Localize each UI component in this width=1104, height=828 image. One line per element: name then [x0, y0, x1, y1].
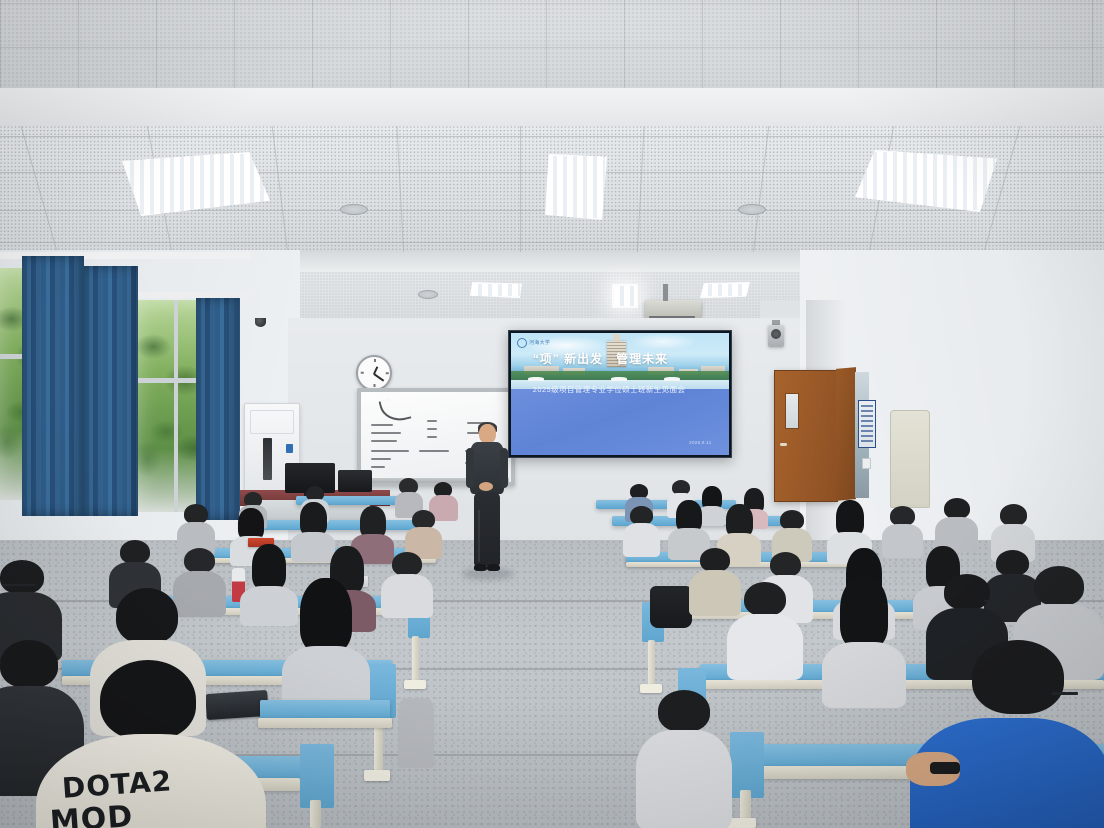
curtain-panel-3: [196, 298, 240, 520]
wall-panel: [890, 410, 930, 508]
slide-title: “项” 新出发 管理未来: [533, 350, 668, 367]
door-handle[interactable]: [780, 443, 787, 446]
ceiling-beam: [0, 88, 1104, 131]
security-camera-icon: [255, 318, 266, 327]
wall-speaker-icon: [768, 325, 784, 347]
desk-foot-r4l: [404, 680, 426, 689]
light-switch[interactable]: [862, 458, 871, 469]
podium-monitor-secondary: [338, 470, 372, 492]
slide-subtitle: 2025级项目管理专业学位硕士班新生见面会: [533, 384, 686, 395]
backpack: [650, 586, 692, 628]
presenter: [466, 424, 508, 576]
ceiling-light-2: [545, 154, 607, 220]
ceiling-vent-back: [418, 290, 438, 299]
logo-mark-icon: [517, 338, 527, 348]
ceiling-light-5: [612, 284, 638, 308]
slide: 河海大学 “项” 新出发 管理未来 2025级项目管理专业学位硕士班新生见面会 …: [511, 333, 729, 455]
ceiling-light-4: [470, 282, 522, 298]
curtain-panel-1: [22, 256, 84, 516]
desk-foot-r4r: [640, 684, 662, 693]
wall-notice-board: [858, 400, 876, 448]
projection-screen: 河海大学 “项” 新出发 管理未来 2025级项目管理专业学位硕士班新生见面会 …: [508, 330, 732, 458]
logo-text: 河海大学: [529, 339, 550, 346]
desk-row6-left-side: [300, 744, 334, 808]
desk-leg-r6l: [310, 800, 321, 828]
ceiling-light-6: [700, 282, 750, 298]
desk-foot-r5l: [364, 770, 390, 781]
shirt-text-line2: MOD: [49, 799, 135, 828]
ceiling-back-section: [290, 272, 810, 324]
desk-row6-right-side: [730, 732, 764, 798]
desk-row6-left-b-edge: [258, 718, 392, 728]
person-fg-dota-shirt: DOTA2 MOD: [36, 660, 266, 828]
classroom-photo: 河海大学 “项” 新出发 管理未来 2025级项目管理专业学位硕士班新生见面会 …: [0, 0, 1104, 828]
curtain-panel-2: [84, 266, 138, 516]
desk-leg-r4l: [412, 636, 419, 682]
ceiling-vent-left: [340, 204, 368, 215]
person-fg-blue-shirt: [910, 640, 1104, 828]
desk-row6-left-b: [260, 700, 390, 720]
wrist-watch: [930, 762, 960, 774]
classroom-door-open-leaf[interactable]: [836, 367, 856, 501]
university-logo: 河海大学: [517, 338, 550, 347]
classroom-door[interactable]: [774, 370, 838, 502]
slide-date: 2025.9.11: [689, 440, 711, 445]
wall-clock-icon: [356, 355, 392, 391]
ceiling-front-section: [0, 0, 1104, 92]
desk-row2-left: [240, 520, 420, 530]
desk-leg-r4r: [648, 640, 655, 686]
ceiling-vent-right: [738, 204, 766, 215]
